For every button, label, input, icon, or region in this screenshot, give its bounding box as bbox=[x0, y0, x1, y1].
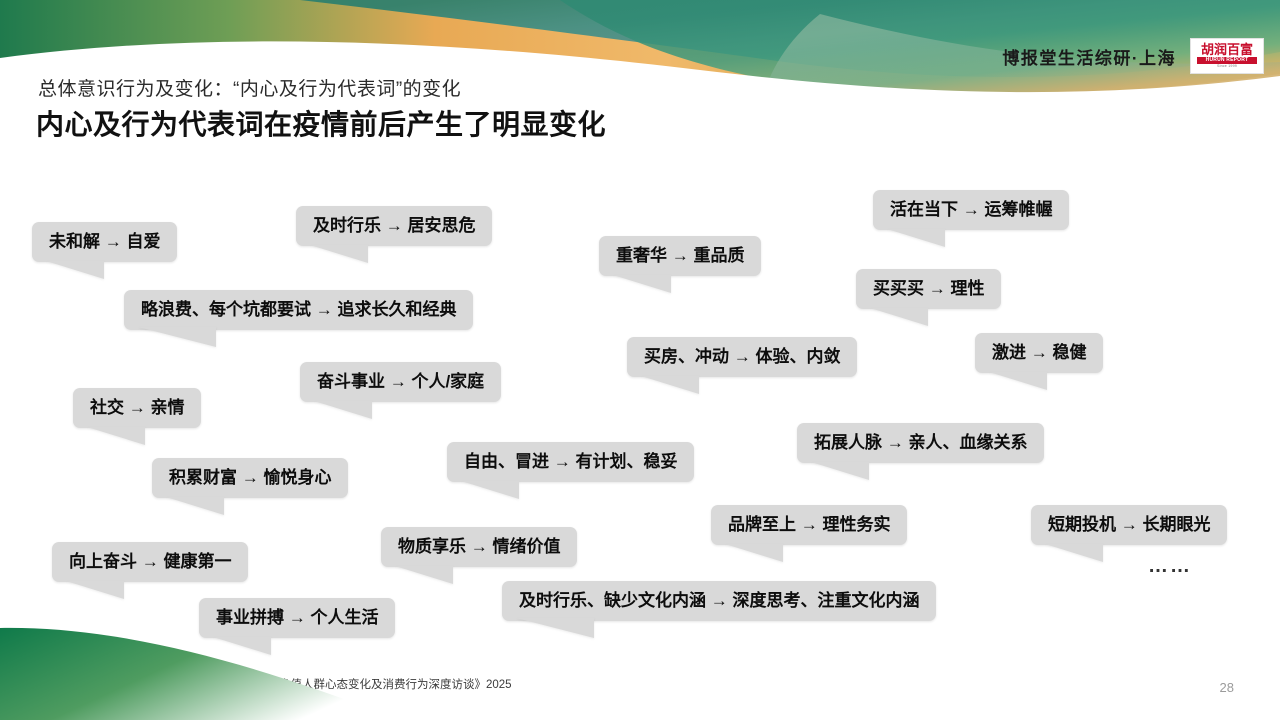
speech-bubble: 奋斗事业 → 个人/家庭 bbox=[300, 362, 501, 402]
speech-bubble: 激进 → 稳健 bbox=[975, 333, 1103, 373]
speech-bubble: 拓展人脉 → 亲人、血缘关系 bbox=[797, 423, 1044, 463]
speech-bubble: 社交 → 亲情 bbox=[73, 388, 201, 428]
slide-canvas: 博报堂生活综研·上海 胡润百富 HURUN REPORT Since 1999 … bbox=[0, 0, 1280, 720]
speech-bubble-cloud: 未和解 → 自爱及时行乐 → 居安思危活在当下 → 运筹帷幄重奢华 → 重品质买… bbox=[0, 0, 1280, 720]
speech-bubble: 积累财富 → 愉悦身心 bbox=[152, 458, 348, 498]
source-note: 出处：博报堂生活综研上海《高净值人群心态变化及消费行为深度访谈》2025 bbox=[118, 676, 512, 692]
speech-bubble: 短期投机 → 长期眼光 bbox=[1031, 505, 1227, 545]
speech-bubble: 品牌至上 → 理性务实 bbox=[711, 505, 907, 545]
speech-bubble: 向上奋斗 → 健康第一 bbox=[52, 542, 248, 582]
page-number: 28 bbox=[1220, 680, 1234, 695]
speech-bubble: 事业拼搏 → 个人生活 bbox=[199, 598, 395, 638]
speech-bubble: 及时行乐 → 居安思危 bbox=[296, 206, 492, 246]
speech-bubble: 活在当下 → 运筹帷幄 bbox=[873, 190, 1069, 230]
speech-bubble: 重奢华 → 重品质 bbox=[599, 236, 761, 276]
speech-bubble: 买买买 → 理性 bbox=[856, 269, 1001, 309]
speech-bubble: 自由、冒进 → 有计划、稳妥 bbox=[447, 442, 694, 482]
speech-bubble: 未和解 → 自爱 bbox=[32, 222, 177, 262]
speech-bubble: 略浪费、每个坑都要试 → 追求长久和经典 bbox=[124, 290, 473, 330]
ellipsis-marker: …… bbox=[1148, 556, 1192, 576]
speech-bubble: 及时行乐、缺少文化内涵 → 深度思考、注重文化内涵 bbox=[502, 581, 936, 621]
speech-bubble: 买房、冲动 → 体验、内敛 bbox=[627, 337, 857, 377]
speech-bubble: 物质享乐 → 情绪价值 bbox=[381, 527, 577, 567]
